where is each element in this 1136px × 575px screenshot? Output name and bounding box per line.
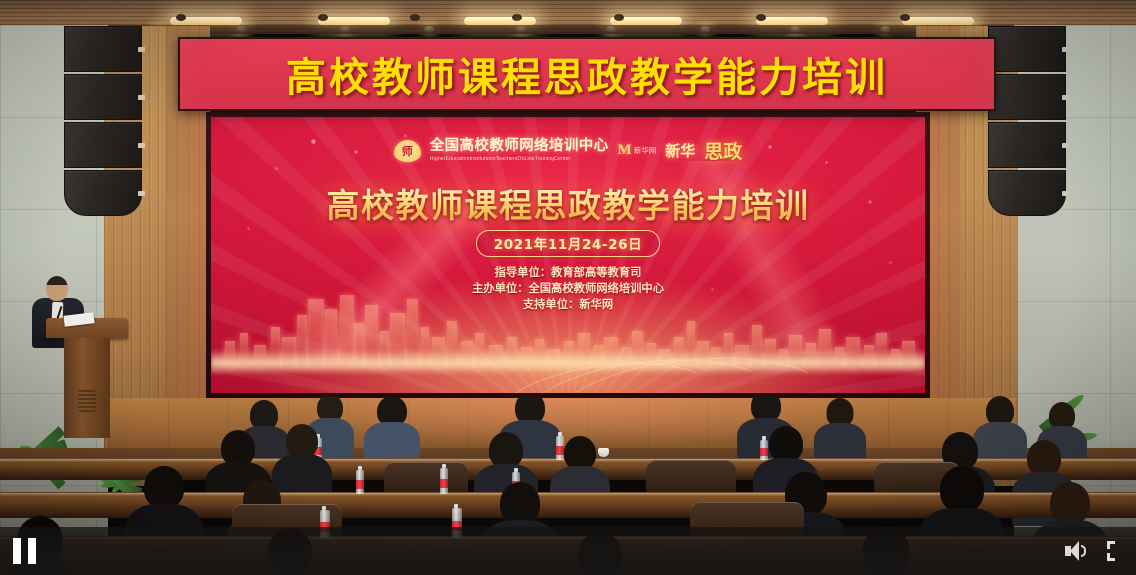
xinhua-news-logo-icon: M 新华网 (618, 143, 657, 158)
screen-title: 高校教师课程思政教学能力培训 (211, 179, 925, 227)
screen-date-badge: 2021年11月24-26日 (476, 230, 660, 257)
water-bottle (356, 470, 364, 494)
video-player[interactable]: 全国高校教师网络培训中心 HigherEducationInstitutions… (0, 0, 1136, 575)
training-center-name-cn: 全国高校教师网络培训中心 (430, 139, 609, 154)
water-bottle (760, 440, 768, 460)
organizer-guidance: 指导单位：教育部高等教育司 (211, 265, 925, 281)
led-screen: 全国高校教师网络培训中心 HigherEducationInstitutions… (206, 112, 930, 398)
chair-back (384, 462, 468, 492)
stage-banner-text: 高校教师课程思政教学能力培训 (286, 45, 888, 103)
paper-cup (598, 448, 609, 457)
training-center-name-en: HigherEducationInstitutionsTeachersOnLin… (430, 156, 609, 162)
partner-suffix: 思政 (704, 137, 742, 164)
screen-organizers: 指导单位：教育部高等教育司 主办单位：全国高校教师网络培训中心 支持单位：新华网 (211, 265, 925, 313)
player-control-bar[interactable] (0, 527, 1136, 575)
water-bottle (556, 436, 564, 460)
line-array-speaker-left (64, 26, 142, 216)
news-mark-label: 新华网 (634, 147, 657, 155)
news-mark-letter: M (618, 143, 632, 158)
water-bottle (440, 468, 448, 494)
chair-back (646, 460, 736, 492)
organizer-support: 支持单位：新华网 (211, 297, 925, 313)
pause-icon (13, 538, 37, 564)
conference-hall-scene: 全国高校教师网络培训中心 HigherEducationInstitutions… (0, 0, 1136, 575)
stage-banner: 高校教师课程思政教学能力培训 (178, 37, 996, 111)
partner-name: 新华 (665, 140, 695, 161)
volume-icon (1065, 541, 1087, 561)
organizer-host: 主办单位：全国高校教师网络培训中心 (211, 281, 925, 297)
play-pause-button[interactable] (13, 538, 37, 564)
training-center-logo-icon (394, 140, 421, 162)
fullscreen-button[interactable] (1105, 541, 1123, 561)
line-array-speaker-right (988, 26, 1066, 216)
volume-button[interactable] (1065, 541, 1087, 561)
screen-logo-row: 全国高校教师网络培训中心 HigherEducationInstitutions… (211, 137, 925, 164)
fullscreen-icon (1105, 541, 1123, 561)
